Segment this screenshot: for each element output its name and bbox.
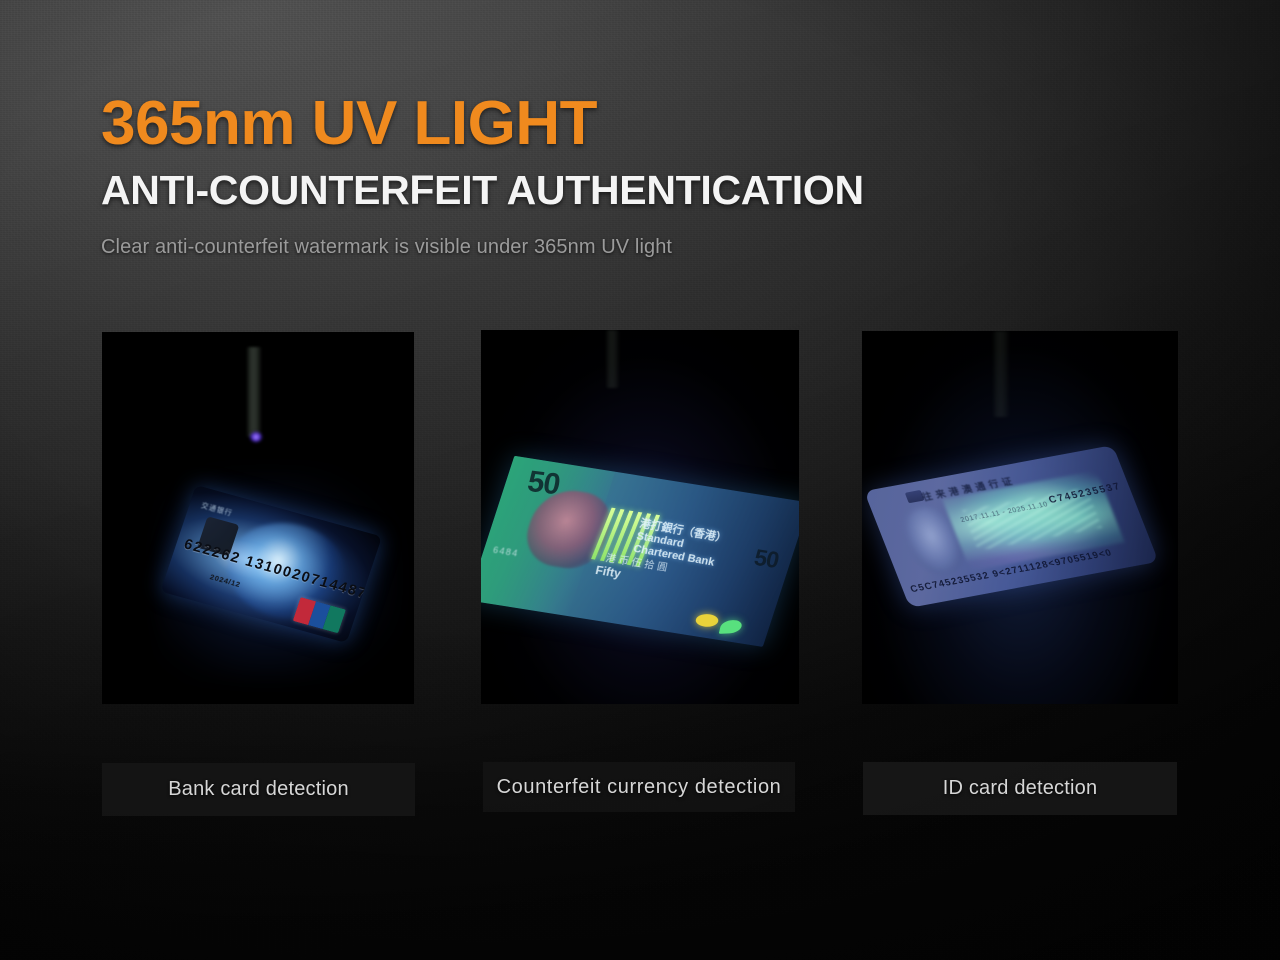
page-description: Clear anti-counterfeit watermark is visi…	[101, 234, 1101, 260]
photo-id-card-detection: 往来港澳通行证 2017.11.11 - 2025.11.10 C7452355…	[862, 331, 1178, 704]
uv-led-tip-icon	[250, 432, 262, 442]
caption-id-card-detection: ID card detection	[863, 762, 1177, 815]
photo-bank-card-detection: 交通银行 622262 1310020714487 2024/12	[102, 332, 414, 704]
banknote-uv-dot-yellow	[693, 613, 721, 629]
uv-flashlight-icon	[246, 347, 262, 437]
banknote-denomination-right: 50	[752, 545, 781, 575]
uv-scene-id-card: 往来港澳通行证 2017.11.11 - 2025.11.10 C7452355…	[862, 331, 1178, 704]
uv-flashlight-icon	[605, 330, 620, 388]
uv-scene-banknote: 50 50 港打銀行（香港） Standard Chartered Bank 港…	[481, 330, 799, 704]
caption-bank-card-detection: Bank card detection	[102, 763, 415, 816]
banknote-uv-dot-green	[718, 620, 743, 634]
banknote-value-english: Fifty	[593, 563, 621, 581]
unionpay-logo-icon	[293, 597, 346, 633]
caption-counterfeit-currency-detection: Counterfeit currency detection	[483, 762, 795, 812]
heading-block: 365nm UV LIGHT ANTI-COUNTERFEIT AUTHENTI…	[101, 92, 1101, 260]
page-subtitle: ANTI-COUNTERFEIT AUTHENTICATION	[101, 168, 1101, 212]
page-title: 365nm UV LIGHT	[101, 92, 1101, 156]
slide-canvas: 365nm UV LIGHT ANTI-COUNTERFEIT AUTHENTI…	[0, 0, 1280, 960]
photo-counterfeit-currency-detection: 50 50 港打銀行（香港） Standard Chartered Bank 港…	[481, 330, 799, 704]
banknote-denomination-top: 50	[524, 465, 561, 502]
uv-scene-bank-card: 交通银行 622262 1310020714487 2024/12	[102, 332, 414, 704]
uv-flashlight-icon	[992, 331, 1010, 417]
